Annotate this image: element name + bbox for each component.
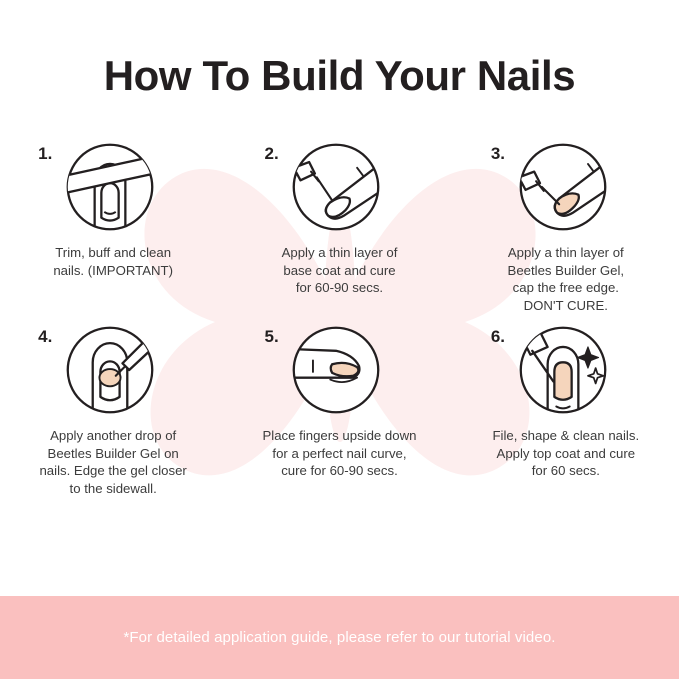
step-5-icon-row: 5. — [264, 322, 414, 418]
step-1-icon-row: 1. — [38, 139, 188, 235]
step-2: 2. — [226, 139, 452, 314]
step-4-number: 4. — [38, 322, 62, 345]
file-shape-sparkle-icon — [515, 322, 611, 418]
step-3-icon-row: 3. — [491, 139, 641, 235]
caption-line: DON'T CURE. — [468, 297, 663, 315]
caption-line: nails. (IMPORTANT) — [16, 262, 211, 280]
caption-line: nails. Edge the gel closer — [16, 462, 211, 480]
caption-line: cap the free edge. — [468, 279, 663, 297]
step-1: 1. — [0, 139, 226, 314]
footer-text: *For detailed application guide, please … — [123, 629, 555, 646]
caption-line: File, shape & clean nails. — [468, 427, 663, 445]
caption-line: to the sidewall. — [16, 480, 211, 498]
step-4: 4. — [0, 322, 226, 497]
step-6-icon-row: 6. — [491, 322, 641, 418]
caption-line: Apply top coat and cure — [468, 445, 663, 463]
finger-upside-down-icon — [288, 322, 384, 418]
caption-line: Place fingers upside down — [242, 427, 437, 445]
step-1-number: 1. — [38, 139, 62, 162]
nail-file-on-finger-icon — [62, 139, 158, 235]
caption-line: Trim, buff and clean — [16, 244, 211, 262]
caption-line: for 60 secs. — [468, 462, 663, 480]
step-6: 6. — [453, 322, 679, 497]
step-5-number: 5. — [264, 322, 288, 345]
page-title: How To Build Your Nails — [0, 0, 679, 97]
step-5-caption: Place fingers upside down for a perfect … — [242, 427, 437, 480]
infographic-page: How To Build Your Nails 1. — [0, 0, 679, 679]
gel-drop-on-nail-icon — [62, 322, 158, 418]
caption-line: for 60-90 secs. — [242, 279, 437, 297]
step-3-caption: Apply a thin layer of Beetles Builder Ge… — [468, 244, 663, 314]
step-3-number: 3. — [491, 139, 515, 162]
caption-line: Apply a thin layer of — [242, 244, 437, 262]
caption-line: for a perfect nail curve, — [242, 445, 437, 463]
step-6-number: 6. — [491, 322, 515, 345]
brush-base-coat-icon — [288, 139, 384, 235]
steps-grid: 1. — [0, 139, 679, 497]
footer-banner: *For detailed application guide, please … — [0, 596, 679, 679]
step-4-caption: Apply another drop of Beetles Builder Ge… — [16, 427, 211, 497]
caption-line: Beetles Builder Gel, — [468, 262, 663, 280]
step-2-caption: Apply a thin layer of base coat and cure… — [242, 244, 437, 297]
step-1-caption: Trim, buff and clean nails. (IMPORTANT) — [16, 244, 211, 279]
step-6-caption: File, shape & clean nails. Apply top coa… — [468, 427, 663, 480]
caption-line: Apply a thin layer of — [468, 244, 663, 262]
step-2-number: 2. — [264, 139, 288, 162]
caption-line: Apply another drop of — [16, 427, 211, 445]
caption-line: cure for 60-90 secs. — [242, 462, 437, 480]
brush-builder-gel-icon — [515, 139, 611, 235]
step-3: 3. — [453, 139, 679, 314]
caption-line: Beetles Builder Gel on — [16, 445, 211, 463]
step-2-icon-row: 2. — [264, 139, 414, 235]
step-5: 5. — [226, 322, 452, 497]
step-4-icon-row: 4. — [38, 322, 188, 418]
caption-line: base coat and cure — [242, 262, 437, 280]
